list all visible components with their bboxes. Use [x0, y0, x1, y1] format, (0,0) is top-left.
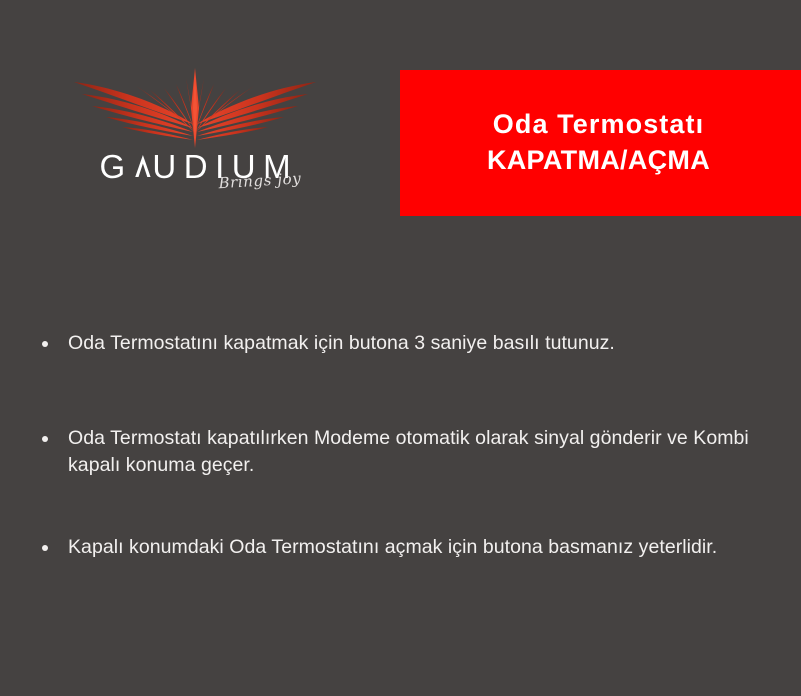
list-item: Kapalı konumdaki Oda Termostatını açmak … — [36, 534, 788, 562]
title-banner: Oda Termostatı KAPATMA/AÇMA — [400, 70, 801, 216]
instruction-list: Oda Termostatını kapatmak için butona 3 … — [36, 330, 788, 562]
list-item-text: Oda Termostatı kapatılırken Modeme otoma… — [68, 427, 749, 477]
wordmark-letter-g: G — [99, 148, 132, 185]
bullet-dot-icon — [42, 545, 48, 551]
bullet-dot-icon — [42, 341, 48, 347]
list-item-text: Kapalı konumdaki Oda Termostatını açmak … — [68, 536, 717, 558]
bullet-dot-icon — [42, 436, 48, 442]
wings-icon — [60, 62, 330, 152]
gaudium-logo: GUDIUM Brings joy — [60, 62, 330, 212]
slide-canvas: GUDIUM Brings joy Oda Termostatı KAPATMA… — [0, 0, 801, 696]
list-item-text: Oda Termostatını kapatmak için butona 3 … — [68, 332, 615, 354]
list-item: Oda Termostatını kapatmak için butona 3 … — [36, 330, 788, 358]
banner-title-line-2: KAPATMA/AÇMA — [487, 143, 710, 179]
list-item: Oda Termostatı kapatılırken Modeme otoma… — [36, 425, 788, 480]
banner-title-line-1: Oda Termostatı — [493, 107, 704, 143]
